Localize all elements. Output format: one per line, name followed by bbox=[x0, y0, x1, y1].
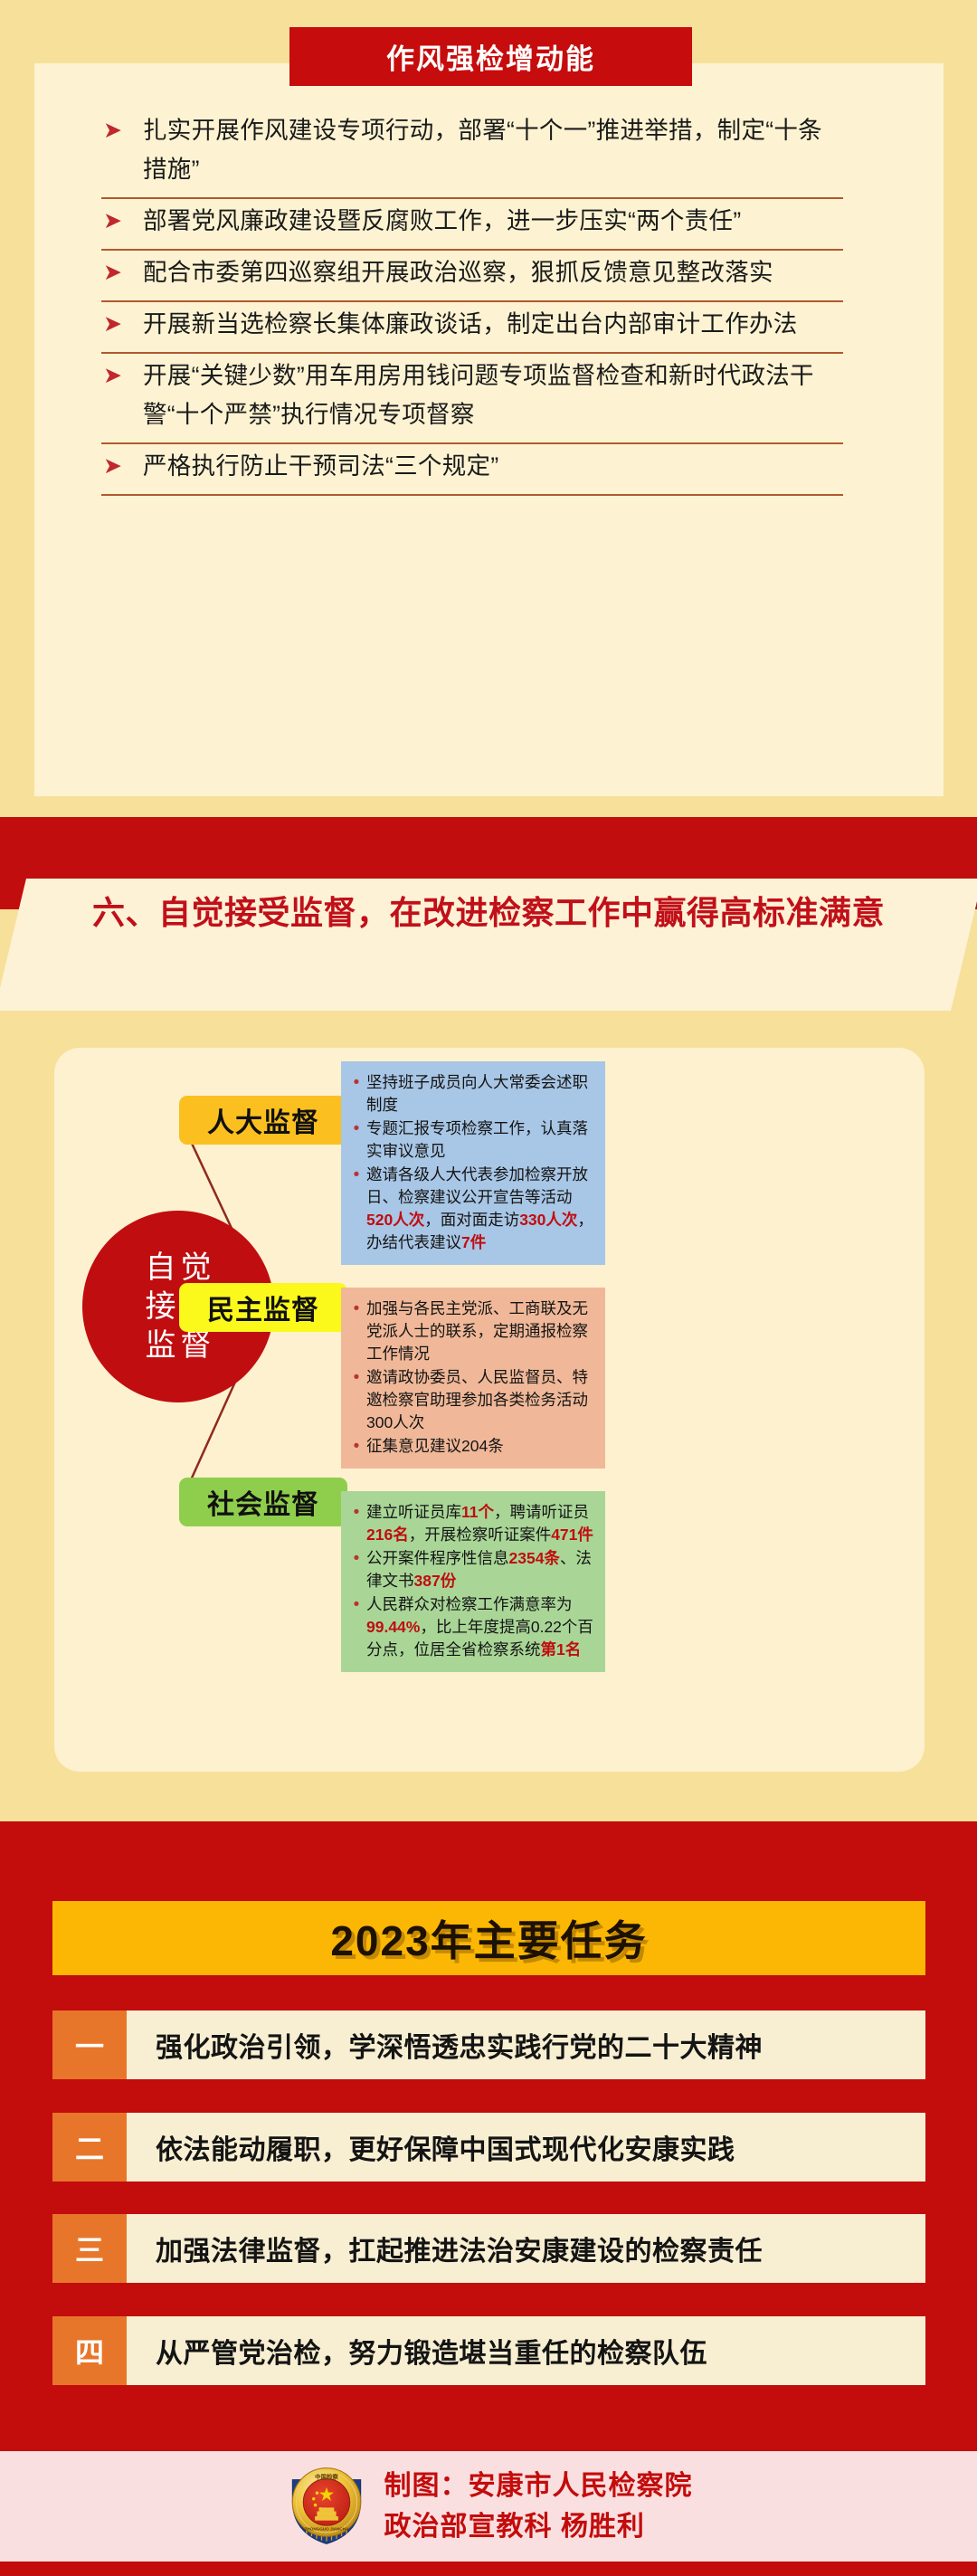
list-item: •邀请政协委员、人民监督员、特邀检察官助理参加各类检务活动300人次 bbox=[346, 1366, 596, 1434]
plain-text: 邀请各级人大代表参加检察开放日、检察建议公开宣告等活动 bbox=[366, 1165, 588, 1206]
plain-text: 加强与各民主党派、工商联及无党派人士的联系，定期通报检察工作情况 bbox=[366, 1299, 588, 1363]
dot-bullet-icon: • bbox=[346, 1435, 366, 1458]
plain-text: 专题汇报专项检察工作，认真落实审议意见 bbox=[366, 1119, 588, 1160]
arrow-bullet-icon: ➤ bbox=[101, 111, 143, 150]
highlight-value: 第1名 bbox=[541, 1640, 582, 1659]
mindmap-panel-social: •建立听证员库11个，聘请听证员216名，开展检察听证案件471件•公开案件程序… bbox=[341, 1491, 605, 1672]
bullet-text: 开展新当选检察长集体廉政谈话，制定出台内部审计工作办法 bbox=[143, 305, 843, 344]
mindmap-branch-social[interactable]: 社会监督 bbox=[179, 1478, 347, 1526]
procuratorate-emblem-icon: 中国检察 ZHONGGUO JIANCHA bbox=[285, 2465, 368, 2548]
tasks-title: 2023年主要任务 bbox=[330, 1908, 647, 1968]
dot-bullet-icon: • bbox=[346, 1501, 366, 1524]
plain-text: 坚持班子成员向人大常委会述职制度 bbox=[366, 1073, 588, 1114]
work-style-title-banner: 作风强检增动能 bbox=[289, 27, 692, 86]
bullet-text: 配合市委第四巡察组开展政治巡察，狠抓反馈意见整改落实 bbox=[143, 253, 843, 292]
arrow-bullet-icon: ➤ bbox=[101, 305, 143, 344]
tasks-section: 2023年主要任务 一强化政治引领，学深悟透忠实践行党的二十大精神二依法能动履职… bbox=[0, 1821, 977, 2437]
highlight-value: 99.44% bbox=[366, 1618, 420, 1636]
list-item-text: 建立听证员库11个，聘请听证员216名，开展检察听证案件471件 bbox=[366, 1501, 596, 1546]
highlight-value: 11个 bbox=[461, 1503, 494, 1521]
list-item: •专题汇报专项检察工作，认真落实审议意见 bbox=[346, 1117, 596, 1163]
task-text: 从严管党治检，努力锻造堪当重任的检察队伍 bbox=[127, 2316, 925, 2385]
bullet-row: ➤扎实开展作风建设专项行动，部署“十个一”推进举措，制定“十条措施” bbox=[101, 109, 843, 199]
list-item: •加强与各民主党派、工商联及无党派人士的联系，定期通报检察工作情况 bbox=[346, 1298, 596, 1365]
mindmap-card: 自觉接受监督 人大监督 民主监督 社会监督 •坚持班子成员向人大常委会述职制度•… bbox=[54, 1048, 925, 1772]
footer-line-1: 制图：安康市人民检察院 bbox=[384, 2466, 693, 2506]
plain-text: 建立听证员库 bbox=[366, 1503, 461, 1521]
arrow-bullet-icon: ➤ bbox=[101, 202, 143, 241]
task-number-badge: 三 bbox=[52, 2214, 127, 2283]
arrow-bullet-icon: ➤ bbox=[101, 356, 143, 395]
mindmap-branch-npc[interactable]: 人大监督 bbox=[179, 1096, 347, 1145]
arrow-bullet-icon: ➤ bbox=[101, 447, 143, 486]
svg-text:中国检察: 中国检察 bbox=[315, 2473, 338, 2481]
task-text: 依法能动履职，更好保障中国式现代化安康实践 bbox=[127, 2113, 925, 2182]
highlight-value: 330人次 bbox=[519, 1211, 577, 1229]
footer-inner: 中国检察 ZHONGGUO JIANCHA 制图：安康市人民检察院 政治部宣教科… bbox=[0, 2451, 977, 2562]
task-text: 加强法律监督，扛起推进法治安康建设的检察责任 bbox=[127, 2214, 925, 2283]
section-six: 六、自觉接受监督，在改进检察工作中赢得高标准满意 自觉接受监督 人大监督 民主监… bbox=[0, 799, 977, 1821]
work-style-section: 作风强检增动能 ➤扎实开展作风建设专项行动，部署“十个一”推进举措，制定“十条措… bbox=[0, 0, 977, 799]
highlight-value: 520人次 bbox=[366, 1211, 424, 1229]
section-six-heading: 六、自觉接受监督，在改进检察工作中赢得高标准满意 bbox=[49, 886, 935, 940]
dot-bullet-icon: • bbox=[346, 1547, 366, 1570]
task-row[interactable]: 三加强法律监督，扛起推进法治安康建设的检察责任 bbox=[52, 2214, 925, 2283]
highlight-value: 471件 bbox=[551, 1526, 593, 1544]
highlight-value: 387份 bbox=[414, 1572, 457, 1590]
dot-bullet-icon: • bbox=[346, 1117, 366, 1140]
list-item: •邀请各级人大代表参加检察开放日、检察建议公开宣告等活动520人次，面对面走访3… bbox=[346, 1164, 596, 1254]
highlight-value: 7件 bbox=[461, 1233, 486, 1251]
bullet-row: ➤开展新当选检察长集体廉政谈话，制定出台内部审计工作办法 bbox=[101, 302, 843, 354]
mindmap-panel-npc: •坚持班子成员向人大常委会述职制度•专题汇报专项检察工作，认真落实审议意见•邀请… bbox=[341, 1061, 605, 1265]
plain-text: 邀请政协委员、人民监督员、特邀检察官助理参加各类检务活动300人次 bbox=[366, 1368, 588, 1431]
plain-text: 人民群众对检察工作满意率为 bbox=[366, 1595, 573, 1613]
plain-text: ，面对面走访 bbox=[424, 1211, 519, 1229]
dot-bullet-icon: • bbox=[346, 1071, 366, 1094]
task-row[interactable]: 四从严管党治检，努力锻造堪当重任的检察队伍 bbox=[52, 2316, 925, 2385]
bullet-text: 开展“关键少数”用车用房用钱问题专项监督检查和新时代政法干警“十个严禁”执行情况… bbox=[143, 356, 843, 434]
list-item: •人民群众对检察工作满意率为99.44%，比上年度提高0.22个百分点，位居全省… bbox=[346, 1593, 596, 1661]
dot-bullet-icon: • bbox=[346, 1593, 366, 1616]
mindmap-panel-democratic: •加强与各民主党派、工商联及无党派人士的联系，定期通报检察工作情况•邀请政协委员… bbox=[341, 1288, 605, 1469]
arrow-bullet-icon: ➤ bbox=[101, 253, 143, 292]
svg-text:ZHONGGUO JIANCHA: ZHONGGUO JIANCHA bbox=[304, 2527, 348, 2532]
dot-bullet-icon: • bbox=[346, 1298, 366, 1320]
footer-credit: 制图：安康市人民检察院 政治部宣教科 杨胜利 bbox=[384, 2466, 693, 2547]
list-item: •坚持班子成员向人大常委会述职制度 bbox=[346, 1071, 596, 1117]
list-item-text: 征集意见建议204条 bbox=[366, 1435, 596, 1458]
task-number-badge: 一 bbox=[52, 2010, 127, 2079]
footer: 中国检察 ZHONGGUO JIANCHA 制图：安康市人民检察院 政治部宣教科… bbox=[0, 2437, 977, 2576]
list-item-text: 公开案件程序性信息2354条、法律文书387份 bbox=[366, 1547, 596, 1592]
list-item-text: 坚持班子成员向人大常委会述职制度 bbox=[366, 1071, 596, 1117]
bullet-text: 严格执行防止干预司法“三个规定” bbox=[143, 447, 843, 486]
list-item-text: 邀请政协委员、人民监督员、特邀检察官助理参加各类检务活动300人次 bbox=[366, 1366, 596, 1434]
task-row[interactable]: 二依法能动履职，更好保障中国式现代化安康实践 bbox=[52, 2113, 925, 2182]
dot-bullet-icon: • bbox=[346, 1164, 366, 1186]
list-item-text: 人民群众对检察工作满意率为99.44%，比上年度提高0.22个百分点，位居全省检… bbox=[366, 1593, 596, 1661]
list-item-text: 邀请各级人大代表参加检察开放日、检察建议公开宣告等活动520人次，面对面走访33… bbox=[366, 1164, 596, 1254]
plain-text: 公开案件程序性信息 bbox=[366, 1549, 509, 1567]
task-number-badge: 二 bbox=[52, 2113, 127, 2182]
bullet-text: 部署党风廉政建设暨反腐败工作，进一步压实“两个责任” bbox=[143, 202, 843, 241]
bullet-row: ➤开展“关键少数”用车用房用钱问题专项监督检查和新时代政法干警“十个严禁”执行情… bbox=[101, 354, 843, 444]
bullet-row: ➤配合市委第四巡察组开展政治巡察，狠抓反馈意见整改落实 bbox=[101, 251, 843, 302]
bullet-text: 扎实开展作风建设专项行动，部署“十个一”推进举措，制定“十条措施” bbox=[143, 111, 843, 189]
page-title: 作风强检增动能 bbox=[386, 36, 595, 77]
bullet-row: ➤部署党风廉政建设暨反腐败工作，进一步压实“两个责任” bbox=[101, 199, 843, 251]
task-row[interactable]: 一强化政治引领，学深悟透忠实践行党的二十大精神 bbox=[52, 2010, 925, 2079]
dot-bullet-icon: • bbox=[346, 1366, 366, 1389]
plain-text: ，聘请听证员 bbox=[494, 1503, 589, 1521]
list-item-text: 专题汇报专项检察工作，认真落实审议意见 bbox=[366, 1117, 596, 1163]
mindmap-core-line: 自觉 bbox=[141, 1249, 216, 1288]
highlight-value: 2354条 bbox=[509, 1549, 560, 1567]
list-item-text: 加强与各民主党派、工商联及无党派人士的联系，定期通报检察工作情况 bbox=[366, 1298, 596, 1365]
mindmap-branch-democratic[interactable]: 民主监督 bbox=[179, 1283, 347, 1332]
tasks-title-banner: 2023年主要任务 bbox=[52, 1901, 925, 1975]
bullet-row: ➤严格执行防止干预司法“三个规定” bbox=[101, 444, 843, 496]
list-item: •征集意见建议204条 bbox=[346, 1435, 596, 1458]
work-style-bullet-list: ➤扎实开展作风建设专项行动，部署“十个一”推进举措，制定“十条措施”➤部署党风廉… bbox=[101, 109, 843, 496]
footer-line-2: 政治部宣教科 杨胜利 bbox=[384, 2506, 693, 2547]
plain-text: 征集意见建议204条 bbox=[366, 1437, 504, 1455]
list-item: •建立听证员库11个，聘请听证员216名，开展检察听证案件471件 bbox=[346, 1501, 596, 1546]
list-item: •公开案件程序性信息2354条、法律文书387份 bbox=[346, 1547, 596, 1592]
plain-text: ，开展检察听证案件 bbox=[409, 1526, 552, 1544]
task-number-badge: 四 bbox=[52, 2316, 127, 2385]
highlight-value: 216名 bbox=[366, 1526, 409, 1544]
task-text: 强化政治引领，学深悟透忠实践行党的二十大精神 bbox=[127, 2010, 925, 2079]
